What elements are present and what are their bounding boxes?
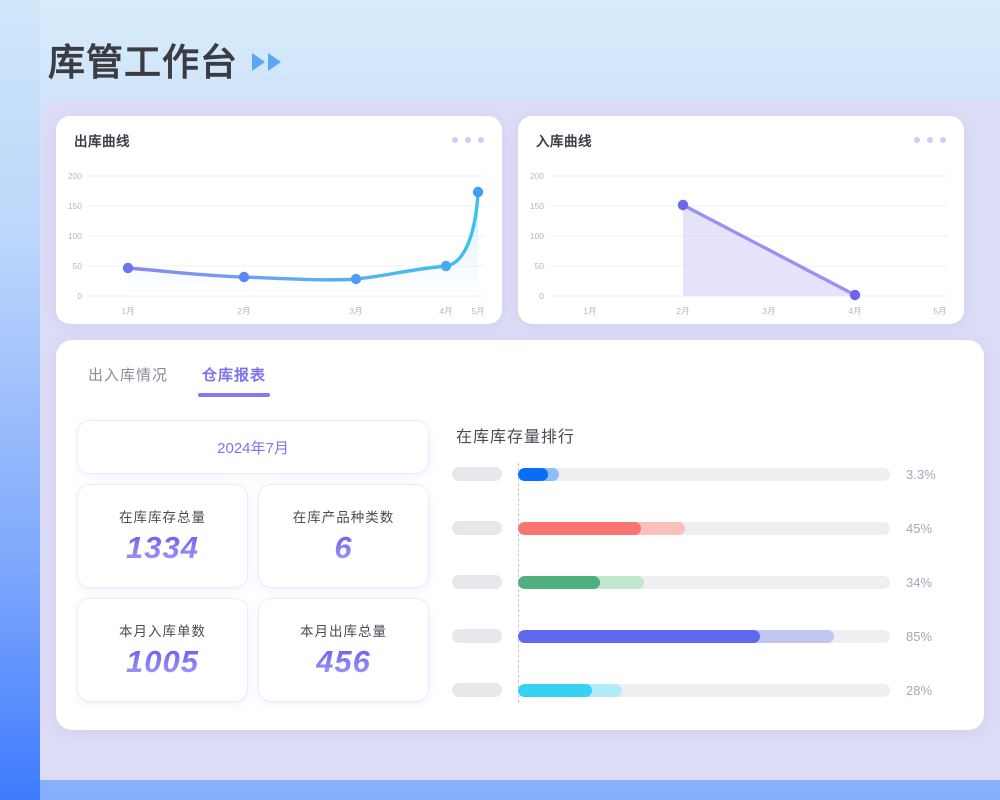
panel-body: 2024年7月 在库库存总量 1334 在库产品种类数 6 本月入库单数 100… [56, 397, 984, 701]
left-edge-strip [0, 0, 40, 800]
page-title: 库管工作台 [48, 32, 281, 86]
stats-column: 2024年7月 在库库存总量 1334 在库产品种类数 6 本月入库单数 100… [78, 421, 428, 701]
ranking-row-dark-segment [518, 576, 600, 589]
inbound-xtick-1: 1月 [573, 305, 607, 317]
report-month-value: 2024年7月 [217, 437, 289, 458]
inbound-ytick-50: 50 [518, 261, 544, 271]
inbound-ytick-100: 100 [518, 231, 544, 241]
ranking-row-track [518, 576, 890, 589]
inbound-chart-title: 入库曲线 [536, 130, 592, 150]
ranking-row-dark-segment [518, 468, 548, 481]
ranking-row-track [518, 522, 890, 535]
tab-warehouse-report[interactable]: 仓库报表 [202, 364, 266, 397]
ranking-row[interactable]: 85% [452, 629, 958, 643]
tab-inbound-outbound[interactable]: 出入库情况 [88, 364, 168, 397]
ranking-column: 在库库存量排行 3.3% [452, 421, 958, 701]
outbound-ytick-200: 200 [56, 171, 82, 181]
stat-value: 1334 [126, 530, 199, 566]
ranking-row-label-chip [452, 467, 502, 481]
stat-value: 6 [334, 530, 352, 566]
ranking-row-label-chip [452, 521, 502, 535]
stat-card-inbound-orders[interactable]: 本月入库单数 1005 [78, 599, 247, 701]
ranking-row-percent: 45% [906, 521, 952, 536]
stat-value: 1005 [126, 644, 199, 680]
ranking-row-percent: 28% [906, 683, 952, 698]
inbound-xtick-2: 2月 [666, 305, 700, 317]
outbound-chart-title: 出库曲线 [74, 130, 130, 150]
inbound-ytick-0: 0 [518, 291, 544, 301]
ranking-row-percent: 34% [906, 575, 952, 590]
inbound-ytick-200: 200 [518, 171, 544, 181]
outbound-ytick-150: 150 [56, 201, 82, 211]
ranking-row[interactable]: 3.3% [452, 467, 958, 481]
ranking-row-dark-segment [518, 522, 641, 535]
panel-tabs: 出入库情况 仓库报表 [56, 340, 984, 397]
ranking-row-percent: 3.3% [906, 467, 952, 482]
ranking-row-label-chip [452, 629, 502, 643]
page-title-text: 库管工作台 [48, 32, 238, 86]
outbound-ytick-50: 50 [56, 261, 82, 271]
stat-card-product-types[interactable]: 在库产品种类数 6 [259, 485, 428, 587]
outbound-chart-card: 出库曲线 [56, 116, 502, 324]
ranking-row-label-chip [452, 575, 502, 589]
outbound-ytick-100: 100 [56, 231, 82, 241]
ranking-title: 在库库存量排行 [456, 423, 958, 447]
ranking-row-dark-segment [518, 684, 592, 697]
inbound-plot-svg [518, 150, 964, 320]
ranking-row-dark-segment [518, 630, 760, 643]
report-month-card[interactable]: 2024年7月 [78, 421, 428, 473]
stats-grid: 在库库存总量 1334 在库产品种类数 6 本月入库单数 1005 本月出库总量… [78, 485, 428, 701]
ranking-row-track [518, 630, 890, 643]
report-panel: 出入库情况 仓库报表 2024年7月 在库库存总量 1334 在库产品种类数 6 [56, 340, 984, 730]
outbound-plot-svg [56, 150, 502, 320]
stat-card-total-stock[interactable]: 在库库存总量 1334 [78, 485, 247, 587]
stat-label: 在库库存总量 [119, 506, 206, 526]
ranking-rows: 3.3% 45% [452, 467, 958, 697]
outbound-xtick-3: 3月 [339, 305, 373, 317]
stat-label: 本月入库单数 [119, 620, 206, 640]
dashboard-shell: 出库曲线 [40, 100, 1000, 780]
ranking-row-label-chip [452, 683, 502, 697]
ranking-row[interactable]: 28% [452, 683, 958, 697]
ranking-row-track [518, 684, 890, 697]
outbound-xtick-5: 5月 [461, 305, 495, 317]
inbound-xtick-3: 3月 [752, 305, 786, 317]
inbound-ytick-150: 150 [518, 201, 544, 211]
inbound-chart-card: 入库曲线 200 150 [518, 116, 964, 324]
outbound-plot: 200 150 100 50 0 1月 2月 3月 4月 5月 [56, 150, 502, 320]
ranking-row-track [518, 468, 890, 481]
ranking-row-percent: 85% [906, 629, 952, 644]
inbound-plot: 200 150 100 50 0 1月 2月 3月 4月 5月 [518, 150, 964, 320]
outbound-chart-header: 出库曲线 [56, 116, 502, 150]
outbound-ytick-0: 0 [56, 291, 82, 301]
inbound-xtick-4: 4月 [838, 305, 872, 317]
outbound-xtick-1: 1月 [111, 305, 145, 317]
more-dots-icon[interactable] [452, 137, 484, 143]
charts-row: 出库曲线 [56, 116, 964, 324]
ranking-row[interactable]: 45% [452, 521, 958, 535]
stat-label: 在库产品种类数 [293, 506, 395, 526]
double-chevron-right-icon [252, 53, 281, 71]
outbound-xtick-4: 4月 [429, 305, 463, 317]
inbound-chart-header: 入库曲线 [518, 116, 964, 150]
inbound-xtick-5: 5月 [923, 305, 957, 317]
more-dots-icon[interactable] [914, 137, 946, 143]
stat-card-outbound-total[interactable]: 本月出库总量 456 [259, 599, 428, 701]
stat-label: 本月出库总量 [300, 620, 387, 640]
stat-value: 456 [316, 644, 371, 680]
outbound-xtick-2: 2月 [227, 305, 261, 317]
ranking-row[interactable]: 34% [452, 575, 958, 589]
